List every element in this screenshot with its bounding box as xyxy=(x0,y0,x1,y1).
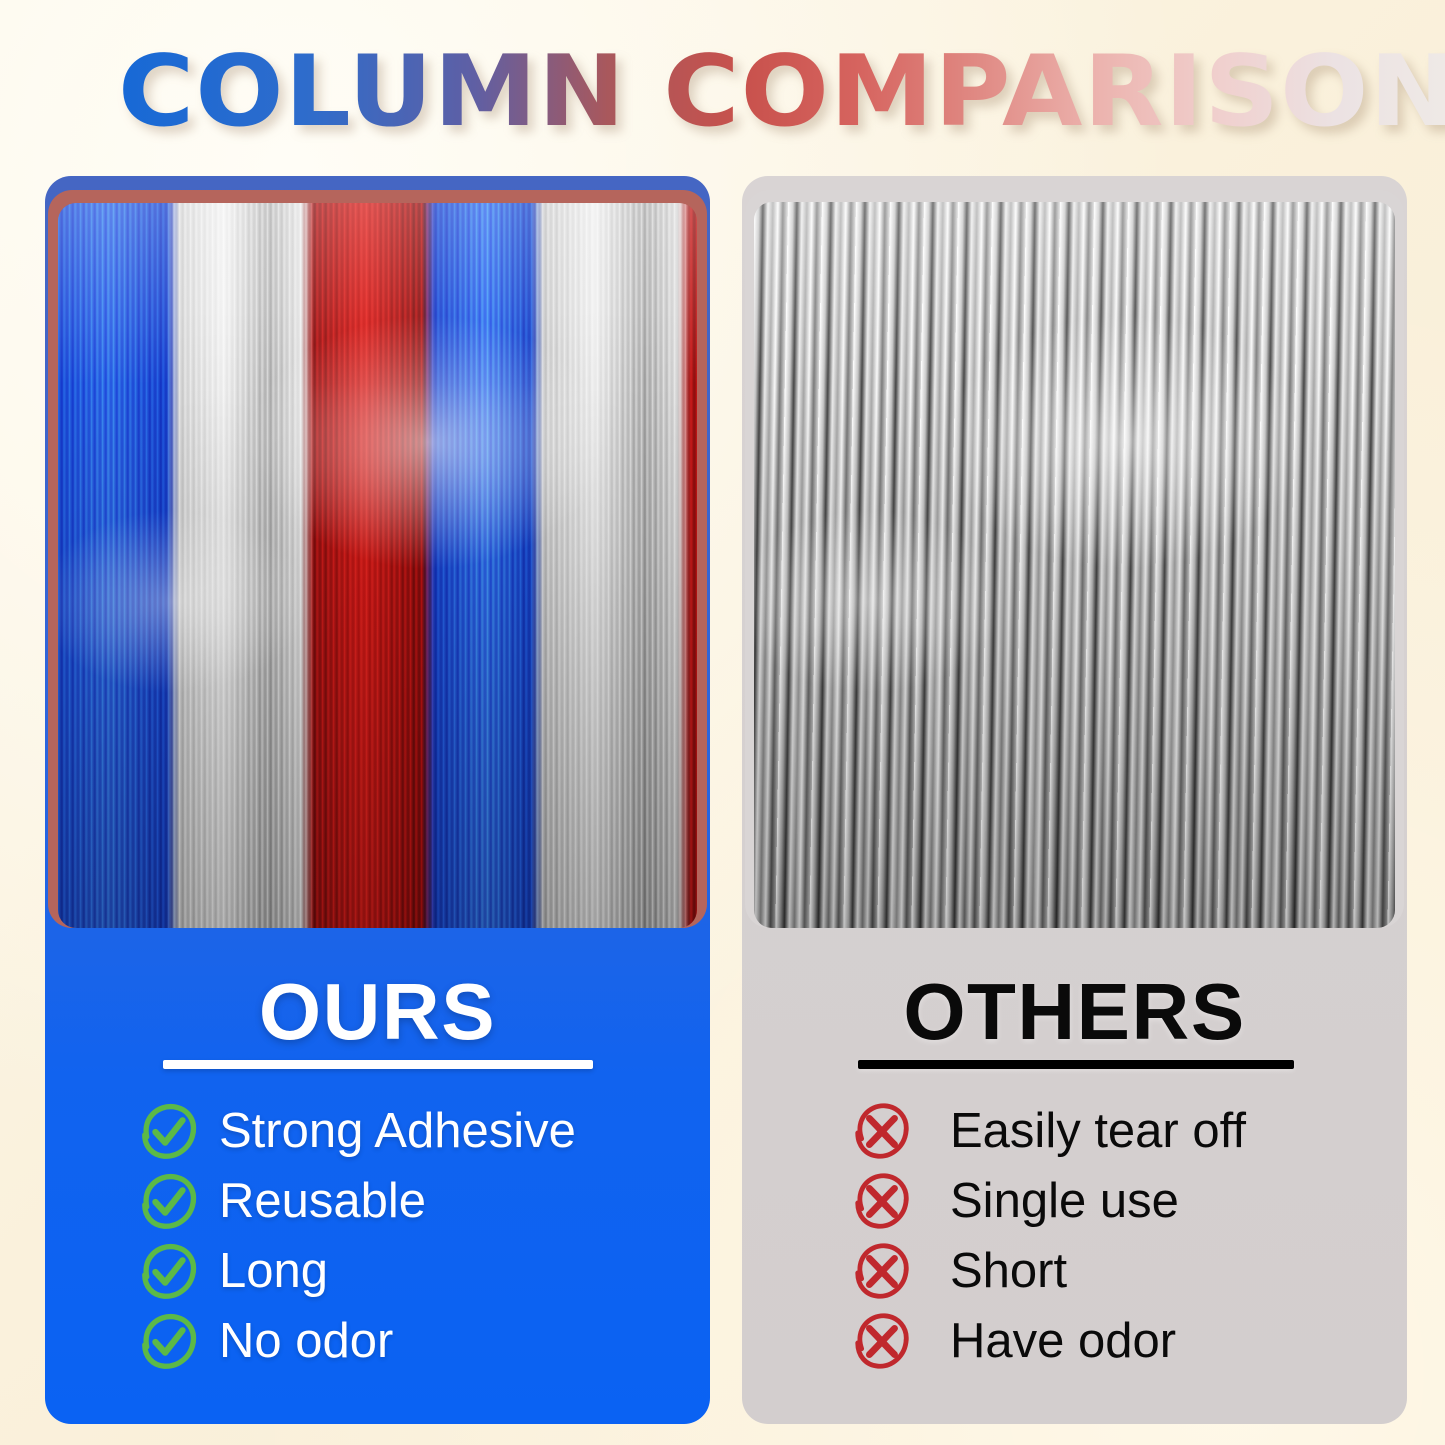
list-item: No odor xyxy=(137,1306,576,1376)
feature-list-ours: Strong Adhesive Reusable Long xyxy=(137,1096,576,1376)
list-item: Long xyxy=(137,1236,576,1306)
list-item: Easily tear off xyxy=(850,1096,1246,1166)
list-item: Strong Adhesive xyxy=(137,1096,576,1166)
check-circle-icon xyxy=(137,1310,199,1372)
feature-list-others: Easily tear off Single use xyxy=(850,1096,1246,1376)
feature-label: Strong Adhesive xyxy=(219,1102,576,1160)
product-photo-ours xyxy=(58,203,697,928)
page-title-text: COLUMN COMPARISON xyxy=(118,38,1445,146)
feature-label: No odor xyxy=(219,1312,393,1370)
photo-sheen-overlay xyxy=(754,202,1395,928)
check-circle-icon xyxy=(137,1240,199,1302)
list-item: Short xyxy=(850,1236,1246,1306)
comparison-column-others: OTHERS Easily tear off xyxy=(742,176,1407,1424)
list-item: Reusable xyxy=(137,1166,576,1236)
feature-label: Short xyxy=(950,1242,1067,1300)
product-photo-frame-others xyxy=(745,190,1404,928)
check-circle-icon xyxy=(137,1100,199,1162)
list-item: Have odor xyxy=(850,1306,1246,1376)
feature-label: Easily tear off xyxy=(950,1102,1246,1160)
heading-underline-others xyxy=(858,1060,1294,1069)
feature-label: Have odor xyxy=(950,1312,1176,1370)
column-heading-ours: OURS xyxy=(45,968,710,1056)
check-circle-icon xyxy=(137,1170,199,1232)
list-item: Single use xyxy=(850,1166,1246,1236)
heading-underline-ours xyxy=(163,1060,593,1069)
cross-circle-icon xyxy=(850,1310,912,1372)
cross-circle-icon xyxy=(850,1240,912,1302)
product-photo-others xyxy=(754,202,1395,928)
feature-label: Long xyxy=(219,1242,328,1300)
feature-label: Single use xyxy=(950,1172,1179,1230)
product-photo-frame-ours xyxy=(48,190,707,928)
cross-circle-icon xyxy=(850,1100,912,1162)
cross-circle-icon xyxy=(850,1170,912,1232)
comparison-column-ours: OURS Strong Adhesive Reusable xyxy=(45,176,710,1424)
column-heading-others: OTHERS xyxy=(742,968,1407,1056)
page-title: COLUMN COMPARISON COLUMN COMPARISON xyxy=(0,38,1445,148)
photo-sheen-overlay xyxy=(58,203,697,928)
feature-label: Reusable xyxy=(219,1172,426,1230)
